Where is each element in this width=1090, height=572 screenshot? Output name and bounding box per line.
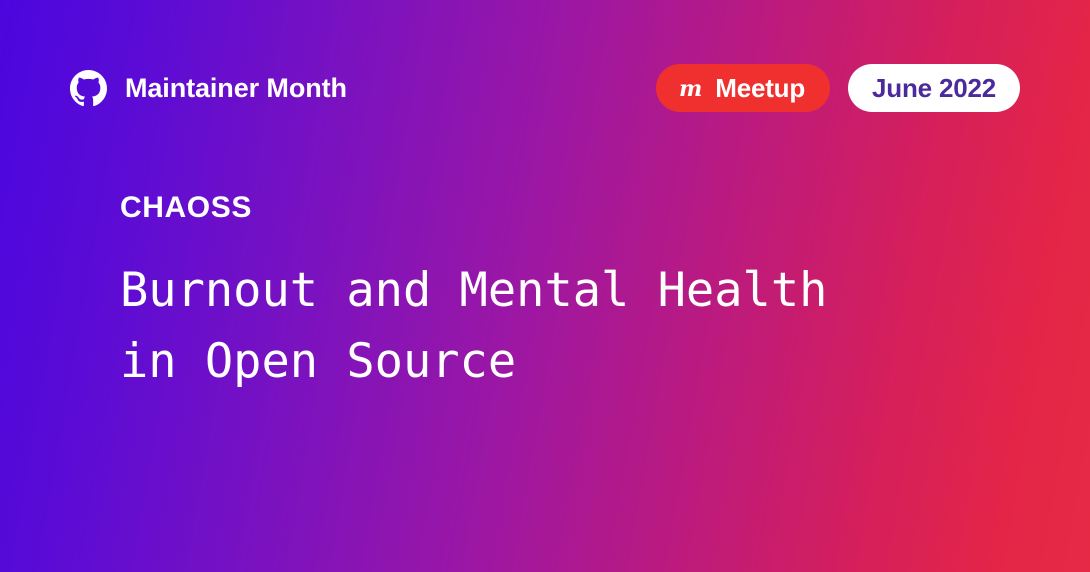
date-badge: June 2022 (848, 64, 1020, 112)
event-banner: Maintainer Month m Meetup June 2022 CHAO… (0, 0, 1090, 572)
brand-name: Maintainer Month (125, 75, 347, 102)
github-octocat-icon (70, 70, 107, 107)
date-badge-label: June 2022 (872, 75, 996, 101)
meetup-badge-label: Meetup (715, 75, 805, 101)
header-badges: m Meetup June 2022 (656, 64, 1020, 112)
project-eyebrow: CHAOSS (120, 193, 1010, 223)
banner-header: Maintainer Month m Meetup June 2022 (70, 60, 1020, 116)
meetup-badge[interactable]: m Meetup (656, 64, 830, 112)
talk-title: Burnout and Mental Health in Open Source (120, 256, 1010, 397)
brand-lockup: Maintainer Month (70, 70, 347, 107)
meetup-m-icon: m (679, 78, 702, 100)
banner-content: CHAOSS Burnout and Mental Health in Open… (120, 193, 1010, 397)
